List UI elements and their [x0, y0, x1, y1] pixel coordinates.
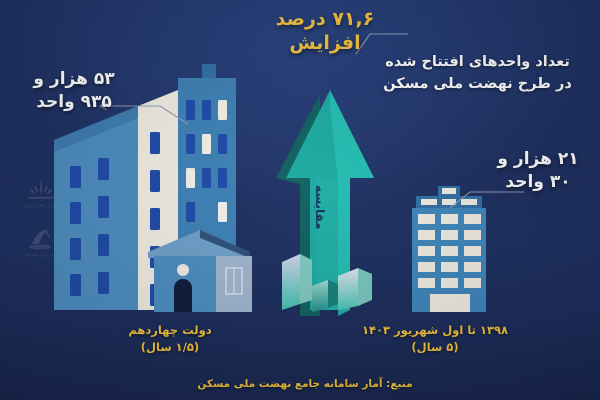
stat-left-line-2: ۹۳۵ واحد	[4, 91, 144, 114]
caption-right-line-2: (۵ سال)	[340, 339, 530, 356]
stat-left-line-1: ۵۳ هزار و	[4, 68, 144, 91]
title-line-1: تعداد واحدهای افتتاح شده	[360, 52, 595, 74]
stat-left-value: ۵۳ هزار و ۹۳۵ واحد	[4, 68, 144, 114]
caption-left-line-1: دولت چهاردهم	[80, 322, 260, 339]
stat-right-line-2: ۳۰ واحد	[478, 171, 598, 194]
mini-bar-group	[278, 246, 388, 312]
page-title: تعداد واحدهای افتتاح شده در طرح نهضت ملی…	[360, 52, 595, 96]
infographic-canvas: شورای عالی مسکن وزارت راه و شهرسازی	[0, 0, 600, 400]
caption-left: دولت چهاردهم (۱/۵ سال)	[80, 322, 260, 357]
right-building	[404, 186, 500, 312]
stat-right-value: ۲۱ هزار و ۳۰ واحد	[478, 148, 598, 194]
caption-right-line-1: ۱۳۹۸ تا اول شهریور ۱۴۰۳	[340, 322, 530, 339]
stat-right-line-1: ۲۱ هزار و	[478, 148, 598, 171]
headline-percent-block: ۷۱,۶ درصد افزایش	[250, 8, 400, 56]
headline-percent: ۷۱,۶ درصد	[250, 8, 400, 32]
title-line-2: در طرح نهضت ملی مسکن	[360, 74, 595, 96]
arrow-comparison-label: مقایسه	[313, 185, 327, 230]
caption-right: ۱۳۹۸ تا اول شهریور ۱۴۰۳ (۵ سال)	[340, 322, 530, 357]
caption-left-line-2: (۱/۵ سال)	[80, 339, 260, 356]
source-note: منبع: آمار سامانه جامع نهضت ملی مسکن	[175, 378, 435, 390]
